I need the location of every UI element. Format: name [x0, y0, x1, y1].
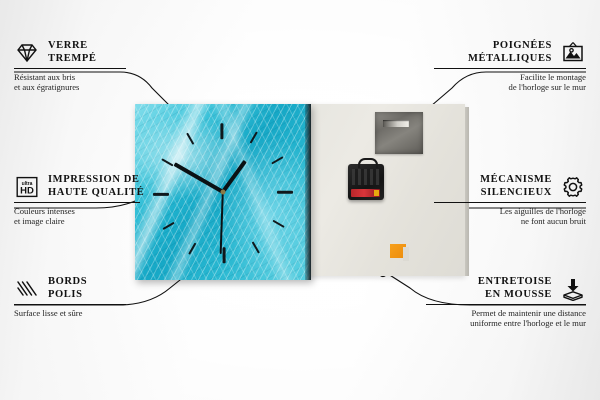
callout-title: POIGNÉES MÉTALLIQUES: [468, 40, 552, 65]
callout-header: POIGNÉES MÉTALLIQUES: [434, 40, 586, 65]
callout-mecanisme-silencieux: MÉCANISME SILENCIEUX Les aiguilles de l'…: [434, 174, 586, 227]
callout-subtitle: Facilite le montage de l'horloge sur le …: [434, 72, 586, 93]
callout-title: ENTRETOISE EN MOUSSE: [478, 276, 552, 301]
clock-tick: [161, 158, 173, 166]
minute-hand: [174, 162, 224, 193]
gear-icon: [560, 175, 586, 199]
callout-rule: [426, 304, 586, 305]
callout-header: ultra HD IMPRESSION DE HAUTE QUALITÉ: [14, 174, 154, 199]
clock-tick: [271, 156, 283, 164]
glass-clock-face: [135, 104, 311, 280]
foam-spacer-icon: [560, 277, 586, 301]
clock-tick: [162, 222, 174, 230]
clock-tick: [186, 132, 194, 144]
hour-hand: [221, 160, 247, 193]
svg-text:HD: HD: [20, 185, 34, 196]
foam-spacer: [390, 244, 406, 258]
picture-hanger-icon: [560, 41, 586, 65]
callout-header: MÉCANISME SILENCIEUX: [434, 174, 586, 199]
callout-entretoise-en-mousse: ENTRETOISE EN MOUSSE Permet de maintenir…: [426, 276, 586, 329]
product-image: [135, 104, 465, 280]
callout-title: VERRE TREMPÉ: [48, 40, 97, 65]
infographic-canvas: VERRE TREMPÉ Résistant aux bris et aux é…: [0, 0, 600, 400]
callout-rule: [14, 202, 140, 203]
callout-rule: [14, 68, 126, 69]
callout-rule: [434, 202, 586, 203]
callout-verre-trempe: VERRE TREMPÉ Résistant aux bris et aux é…: [14, 40, 144, 93]
callout-rule: [14, 304, 126, 305]
clock-tick: [277, 191, 293, 194]
callout-header: VERRE TREMPÉ: [14, 40, 144, 65]
quartz-movement: [348, 164, 384, 200]
polished-edges-icon: [14, 277, 40, 301]
callout-header: ENTRETOISE EN MOUSSE: [426, 276, 586, 301]
movement-hook: [358, 158, 378, 168]
ultra-hd-icon: ultra HD: [14, 175, 40, 199]
clock-tick: [153, 193, 169, 196]
clock-tick: [188, 242, 196, 254]
hanger-slot: [383, 120, 409, 127]
clock-tick: [250, 131, 258, 143]
callout-subtitle: Permet de maintenir une distance uniform…: [426, 308, 586, 329]
clock-tick: [220, 123, 223, 139]
callout-subtitle: Surface lisse et sûre: [14, 308, 144, 318]
metal-hanger-plate: [375, 112, 423, 154]
callout-subtitle: Les aiguilles de l'horloge ne font aucun…: [434, 206, 586, 227]
clock-tick: [223, 247, 226, 263]
diamond-icon: [14, 41, 40, 65]
callout-rule: [434, 68, 586, 69]
battery: [351, 189, 380, 197]
callout-subtitle: Couleurs intenses et image claire: [14, 206, 154, 227]
callout-header: BORDS POLIS: [14, 276, 144, 301]
callout-bords-polis: BORDS POLIS Surface lisse et sûre: [14, 276, 144, 318]
clock-tick: [252, 241, 260, 253]
clock-dial: [135, 104, 311, 280]
callout-title: BORDS POLIS: [48, 276, 87, 301]
callout-impression-haute-qualite: ultra HD IMPRESSION DE HAUTE QUALITÉ Cou…: [14, 174, 154, 227]
callout-title: IMPRESSION DE HAUTE QUALITÉ: [48, 174, 144, 199]
callout-subtitle: Résistant aux bris et aux égratignures: [14, 72, 144, 93]
callout-poignees-metalliques: POIGNÉES MÉTALLIQUES Facilite le montage…: [434, 40, 586, 93]
second-hand: [220, 192, 224, 254]
clock-tick: [272, 220, 284, 228]
movement-housing-detail: [352, 169, 380, 185]
clock-hub: [221, 190, 226, 195]
callout-title: MÉCANISME SILENCIEUX: [480, 174, 552, 199]
